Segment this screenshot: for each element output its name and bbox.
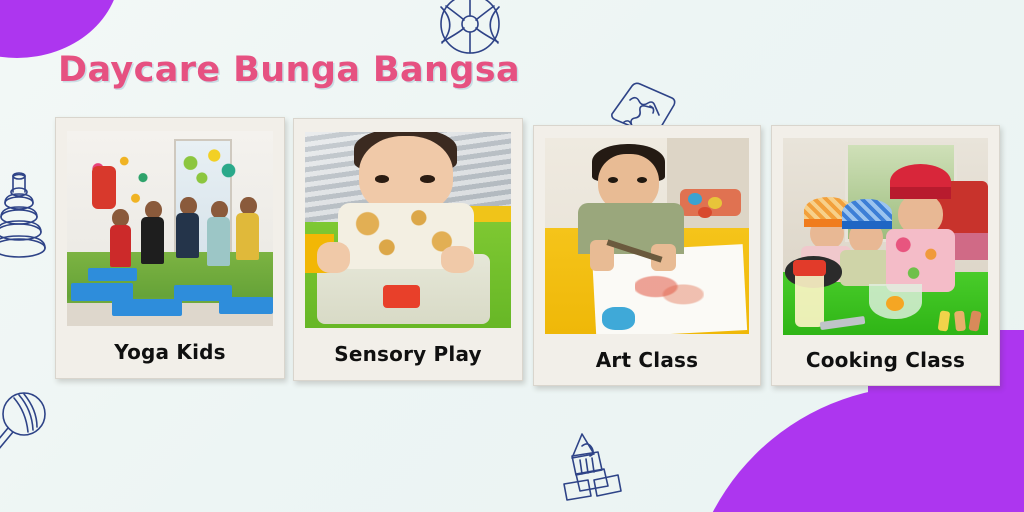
activity-card-yoga-kids[interactable]: Yoga Kids [55,117,285,379]
activity-photo-art-class [545,138,749,334]
building-blocks-icon [558,428,630,502]
activity-photo-yoga-kids [67,131,273,326]
activity-card-label: Yoga Kids [56,326,284,378]
stacking-rings-icon [0,168,50,264]
activity-card-label: Sensory Play [294,328,522,380]
activity-photo-sensory-play [305,132,511,328]
rattle-icon [0,386,50,466]
activity-card-label: Art Class [534,334,760,385]
poster-canvas: Daycare Bunga Bangsa Yoga [0,0,1024,512]
activity-card-cooking-class[interactable]: Cooking Class [771,125,1000,386]
page-title: Daycare Bunga Bangsa [58,50,520,90]
activity-card-label: Cooking Class [772,335,999,385]
activity-photo-cooking-class [783,138,988,335]
activity-card-sensory-play[interactable]: Sensory Play [293,118,523,381]
activity-card-art-class[interactable]: Art Class [533,125,761,386]
